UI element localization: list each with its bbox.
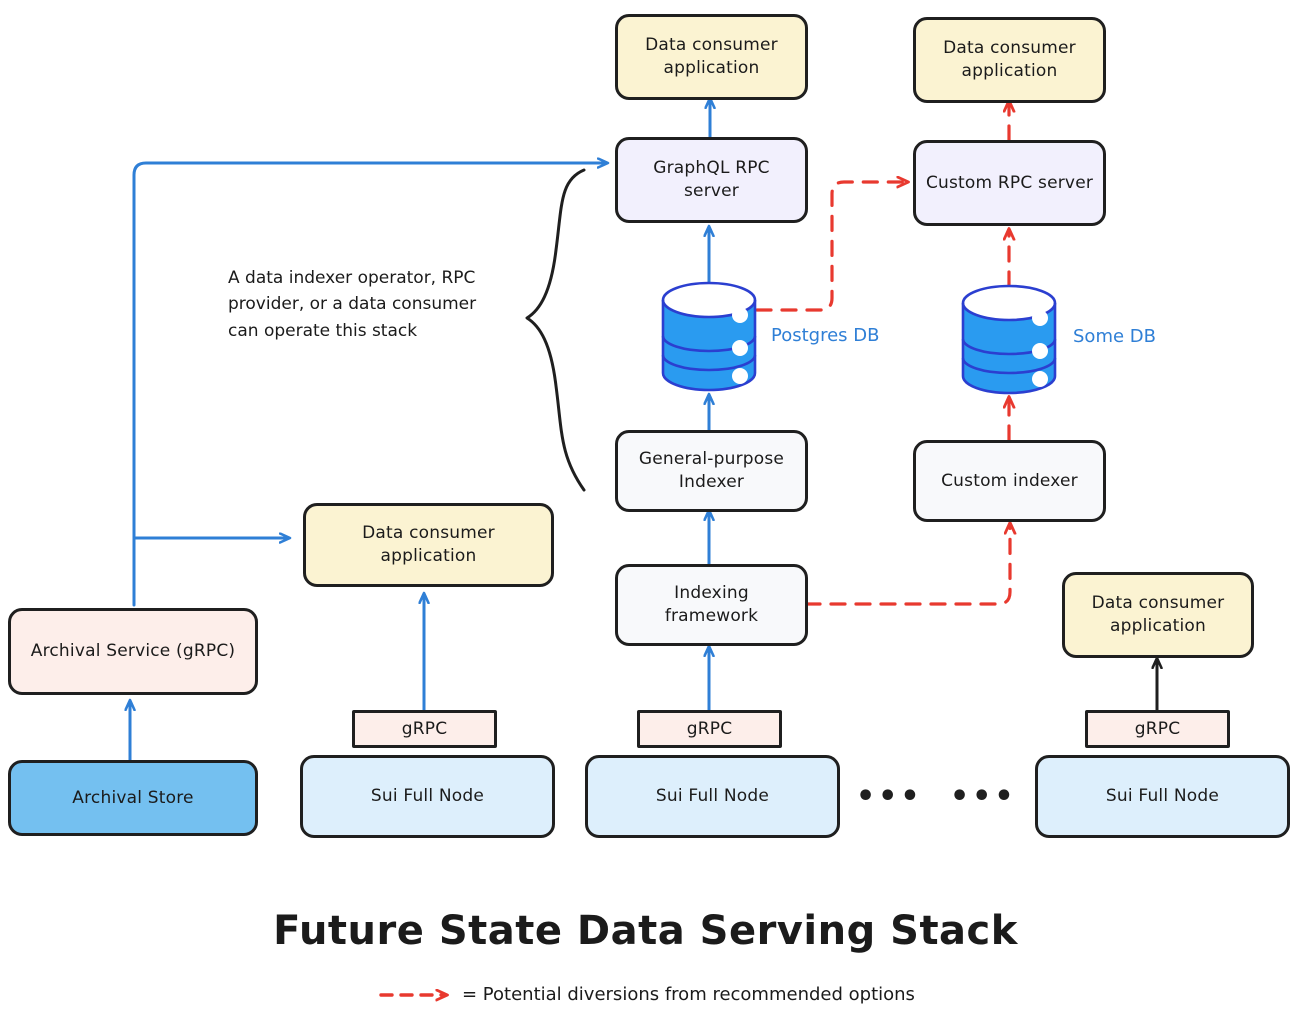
stack-operator-annotation: A data indexer operator, RPC provider, o… (228, 265, 503, 344)
node-sui-full-node-mid[interactable]: Sui Full Node (585, 755, 840, 838)
some-db-cylinder (963, 286, 1055, 393)
ellipsis-right: ••• (950, 782, 1017, 812)
diagram-title: Future State Data Serving Stack (0, 908, 1291, 954)
node-data-consumer-archival[interactable]: Data consumer application (303, 503, 554, 587)
node-sui-full-node-right[interactable]: Sui Full Node (1035, 755, 1290, 838)
edge-framework-to-custom-indexer (806, 525, 1010, 604)
node-data-consumer-graphql[interactable]: Data consumer application (615, 14, 808, 100)
annotation-brace (527, 170, 584, 490)
node-custom-indexer[interactable]: Custom indexer (913, 440, 1106, 522)
node-archival-service[interactable]: Archival Service (gRPC) (8, 608, 258, 695)
diagram-canvas: Data consumer application Data consumer … (0, 0, 1291, 1018)
node-data-consumer-right[interactable]: Data consumer application (1062, 572, 1254, 658)
postgres-db-cylinder (663, 283, 755, 390)
node-grpc-mid[interactable]: gRPC (637, 710, 782, 748)
node-sui-full-node-left[interactable]: Sui Full Node (300, 755, 555, 838)
node-indexing-framework[interactable]: Indexing framework (615, 564, 808, 646)
node-grpc-left[interactable]: gRPC (352, 710, 497, 748)
node-graphql-rpc-server[interactable]: GraphQL RPC server (615, 137, 808, 223)
node-grpc-right[interactable]: gRPC (1085, 710, 1230, 748)
node-archival-store[interactable]: Archival Store (8, 760, 258, 836)
ellipsis-left: ••• (856, 782, 923, 812)
legend-label: = Potential diversions from recommended … (462, 984, 915, 1005)
node-general-purpose-indexer[interactable]: General-purpose Indexer (615, 430, 808, 512)
node-data-consumer-custom[interactable]: Data consumer application (913, 17, 1106, 103)
node-custom-rpc-server[interactable]: Custom RPC server (913, 140, 1106, 226)
some-db-label: Some DB (1073, 326, 1156, 347)
postgres-db-label: Postgres DB (771, 325, 879, 346)
